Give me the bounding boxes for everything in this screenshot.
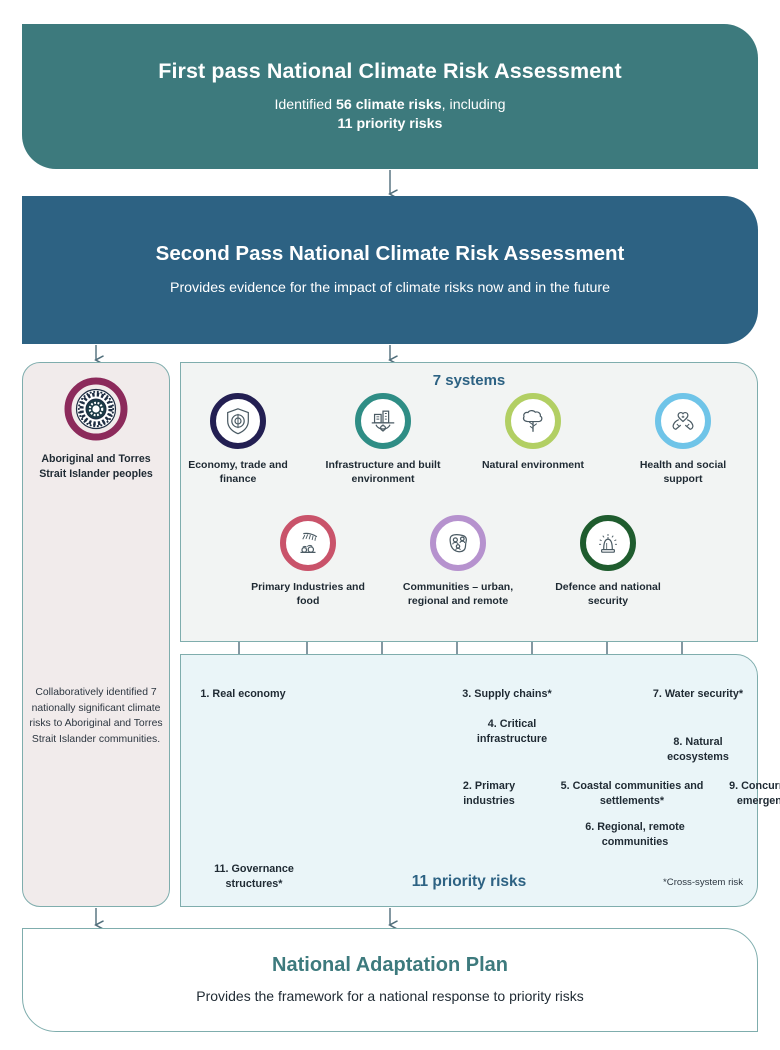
panel-seven-systems: 7 systems Economy, trade and finance [180,362,758,642]
system-label: Economy, trade and finance [179,458,297,487]
system-label: Natural environment [474,458,592,472]
siren-alarm-icon [580,515,636,571]
banner-plan-title: National Adaptation Plan [272,954,508,978]
risk-item-6: 6. Regional, remote communities [565,820,705,851]
system-health-social-support[interactable]: Health and social support [624,393,742,487]
irrigation-crops-icon [280,515,336,571]
system-label: Primary Industries and food [249,580,367,609]
system-economy-trade-finance[interactable]: Economy, trade and finance [179,393,297,487]
tree-icon [505,393,561,449]
infographic-canvas: First pass National Climate Risk Assessm… [0,0,780,1050]
system-label: Communities – urban, regional and remote [399,580,517,609]
first-pass-sub-bold-56: 56 climate risks [336,97,442,113]
risk-item-5: 5. Coastal communities and settlements* [552,779,712,810]
system-natural-environment[interactable]: Natural environment [474,393,592,472]
banner-first-pass-subtitle: Identified 56 climate risks, including 1… [274,96,505,134]
panel-aboriginal-torres-strait: Aboriginal and Torres Strait Islander pe… [22,362,170,907]
system-label: Infrastructure and built environment [324,458,442,487]
banner-second-pass-title: Second Pass National Climate Risk Assess… [156,242,625,266]
system-label: Defence and national security [549,580,667,609]
cross-system-risk-note: *Cross-system risk [663,877,743,888]
hands-heart-icon [655,393,711,449]
city-buildings-gear-icon [355,393,411,449]
system-communities-urban-regional-remote[interactable]: Communities – urban, regional and remote [399,515,517,609]
risk-item-3: 3. Supply chains* [442,687,572,702]
first-pass-sub-pre: Identified [274,97,336,113]
risk-item-7: 7. Water security* [650,687,746,702]
banner-first-pass-assessment: First pass National Climate Risk Assessm… [22,24,758,169]
panel-eleven-priority-risks: 1. Real economy 3. Supply chains* 4. Cri… [180,654,758,907]
risk-item-1: 1. Real economy [198,687,288,702]
first-pass-sub-mid: , including [442,97,506,113]
aboriginal-torres-strait-body-text: Collaboratively identified 7 nationally … [28,685,164,747]
shield-dollar-icon [210,393,266,449]
system-label: Health and social support [624,458,742,487]
banner-plan-subtitle: Provides the framework for a national re… [196,987,584,1006]
risk-item-2: 2. Primary industries [439,779,539,810]
aboriginal-torres-strait-symbol-icon [23,377,169,441]
first-pass-sub-bold-11: 11 priority risks [338,116,443,132]
risk-item-9: 9. Concurrency pressures in emergency re… [716,779,780,825]
banner-first-pass-title: First pass National Climate Risk Assessm… [158,59,622,84]
system-primary-industries-food[interactable]: Primary Industries and food [249,515,367,609]
aboriginal-torres-strait-label: Aboriginal and Torres Strait Islander pe… [29,452,163,482]
banner-second-pass-assessment: Second Pass National Climate Risk Assess… [22,196,758,344]
seven-systems-heading: 7 systems [181,372,757,389]
system-infrastructure-built-environment[interactable]: Infrastructure and built environment [324,393,442,487]
risk-item-4: 4. Critical infrastructure [454,717,570,748]
system-defence-national-security[interactable]: Defence and national security [549,515,667,609]
risk-item-8: 8. Natural ecosystems [648,735,748,766]
banner-second-pass-subtitle: Provides evidence for the impact of clim… [170,279,610,298]
banner-national-adaptation-plan: National Adaptation Plan Provides the fr… [22,928,758,1032]
map-people-icon [430,515,486,571]
